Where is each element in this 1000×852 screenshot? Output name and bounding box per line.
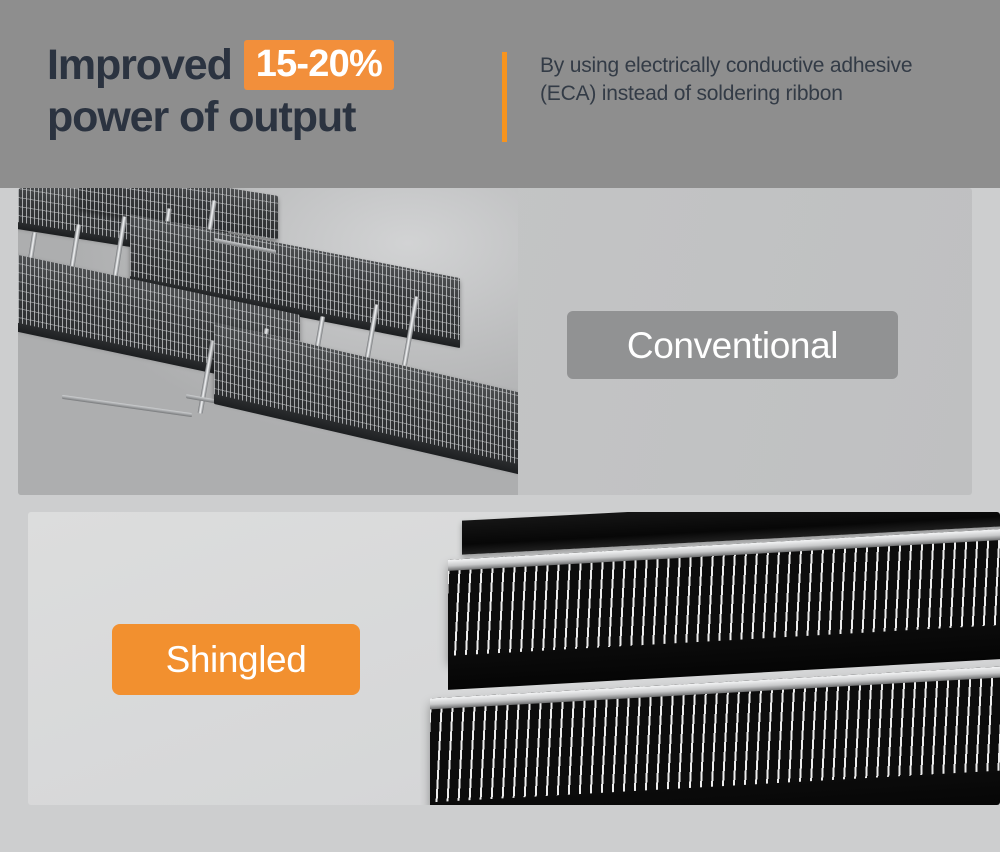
label-conventional: Conventional [567,311,898,379]
footer-band [0,805,1000,852]
headline-phrase-power-of-output: power of output [47,96,355,139]
headline-percentage-badge: 15-20% [244,40,394,90]
label-shingled-text: Shingled [166,641,307,678]
header-banner: Improved 15-20% power of output By using… [0,0,1000,188]
label-conventional-text: Conventional [627,327,838,364]
vertical-divider [502,52,507,142]
header-subtext: By using electrically conductive adhesiv… [540,52,960,108]
conventional-cells-image [18,188,518,495]
panel-conventional: Conventional [18,188,972,495]
headline-row-first: Improved 15-20% [47,40,487,90]
solder-ribbon-flat [62,395,192,417]
infographic-page: Improved 15-20% power of output By using… [0,0,1000,852]
headline-block: Improved 15-20% power of output [47,40,487,142]
panel-shingled: Shingled [28,512,1000,805]
headline-word-improved: Improved [47,44,232,87]
shingled-cells-image [420,512,1000,805]
headline-row-second: power of output [47,92,487,142]
label-shingled: Shingled [112,624,360,695]
